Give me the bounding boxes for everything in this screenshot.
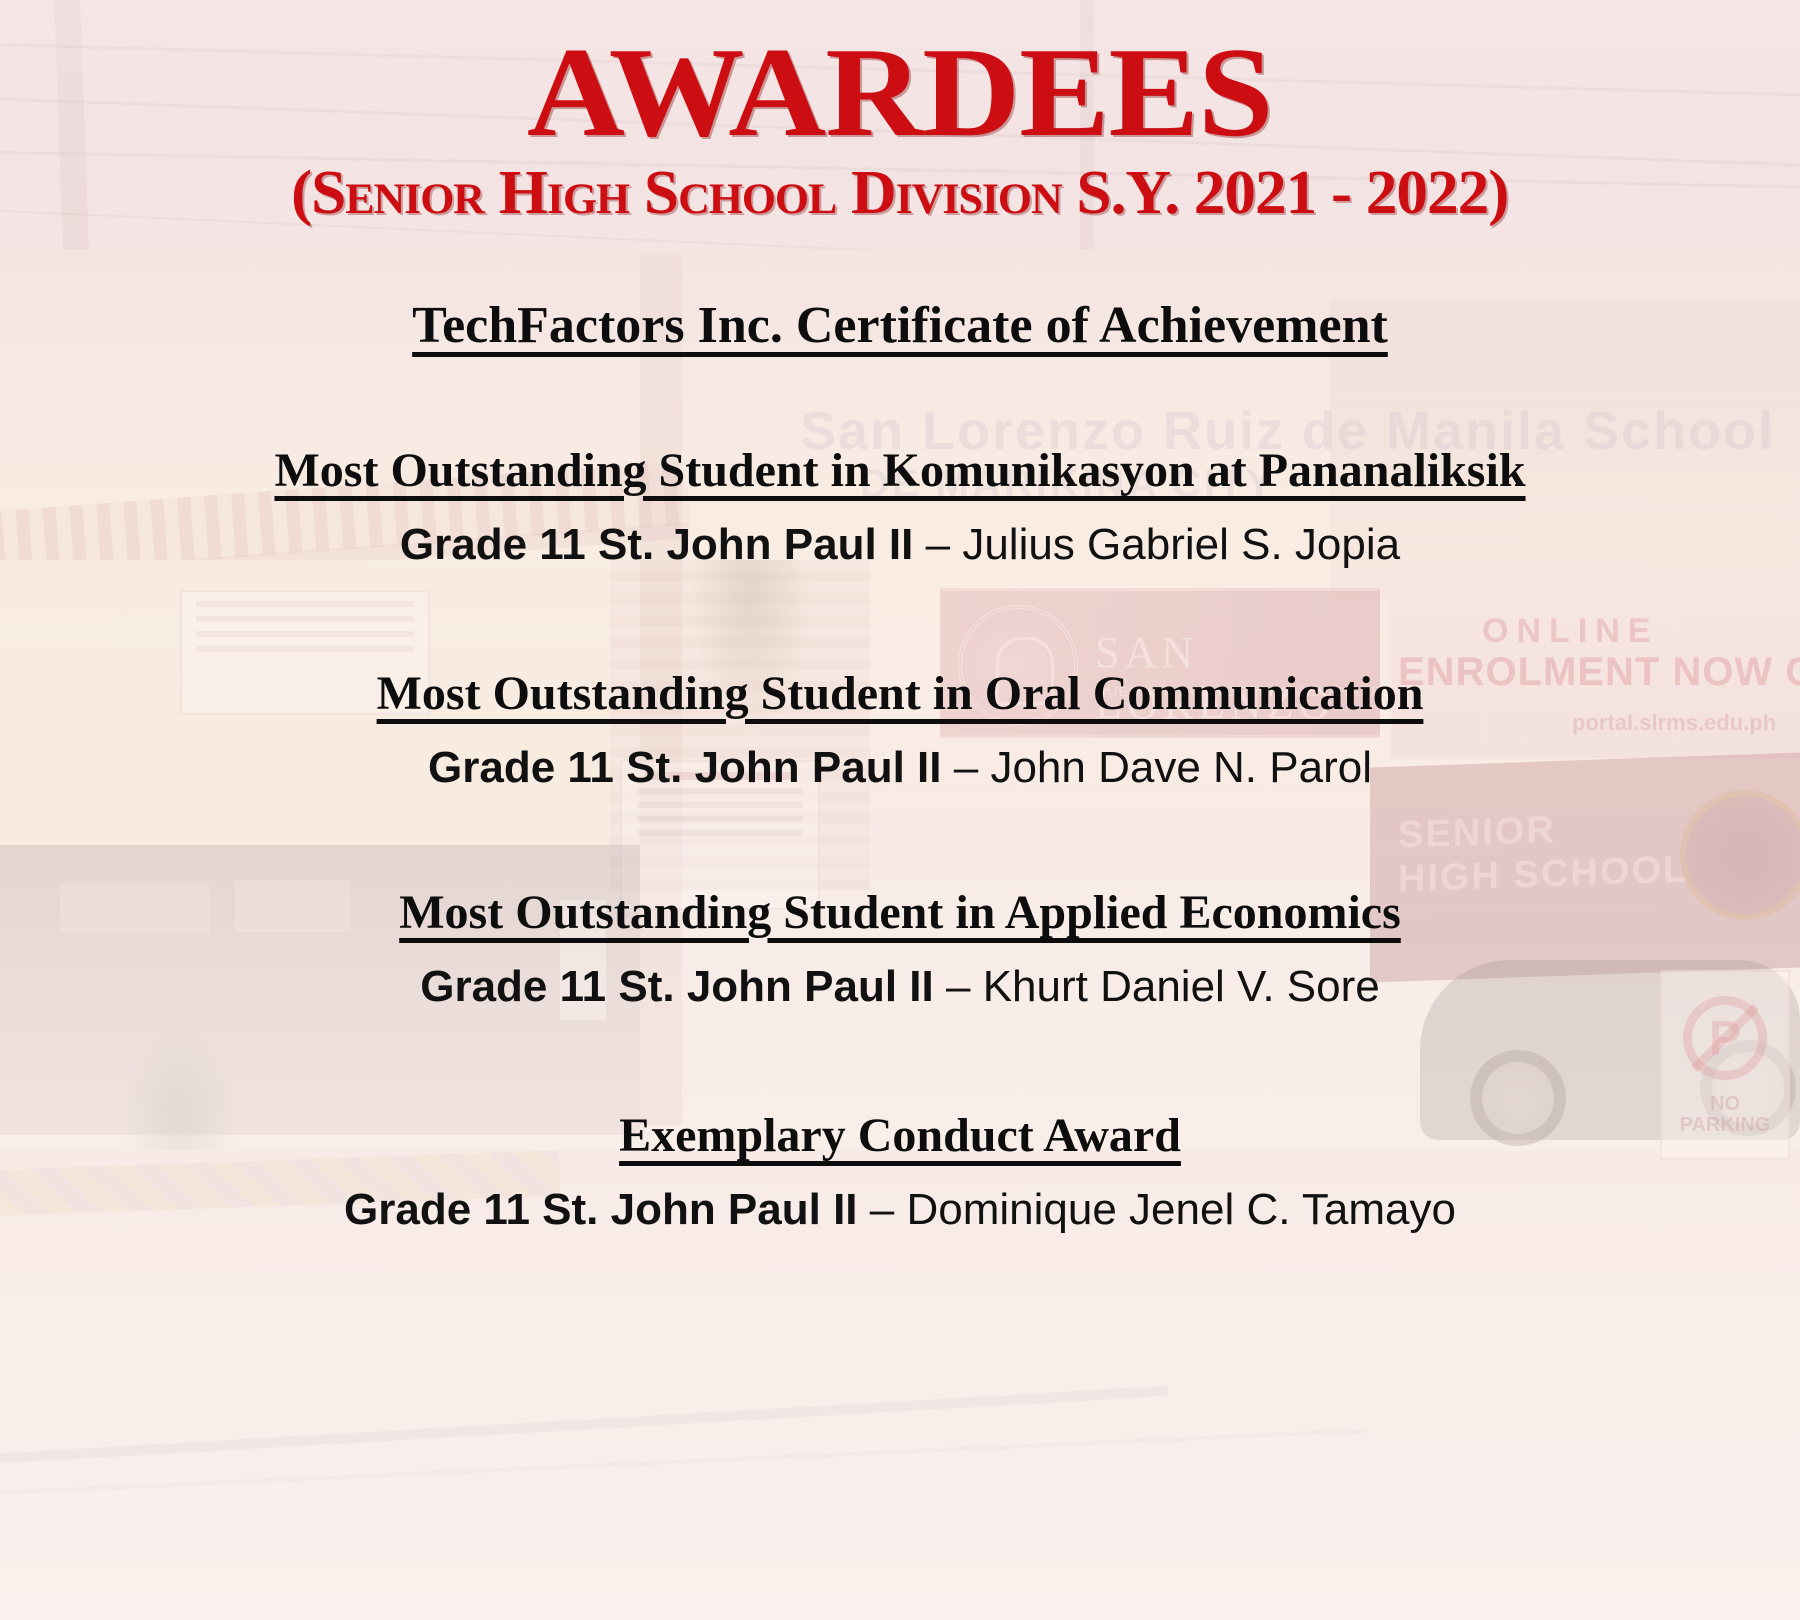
award-entry: Most Outstanding Student in Applied Econ… bbox=[399, 885, 1401, 1012]
award-entry: Exemplary Conduct Award Grade 11 St. Joh… bbox=[344, 1108, 1456, 1235]
page-title: AWARDEES bbox=[527, 28, 1273, 156]
awardee-line: Grade 11 St. John Paul II – Julius Gabri… bbox=[400, 520, 1400, 570]
awardee-separator: – bbox=[954, 743, 978, 792]
awardee-name: Julius Gabriel S. Jopia bbox=[962, 520, 1400, 569]
awardee-grade: Grade 11 St. John Paul II bbox=[420, 962, 934, 1011]
awardee-line: Grade 11 St. John Paul II – Dominique Je… bbox=[344, 1185, 1456, 1235]
awardee-grade: Grade 11 St. John Paul II bbox=[400, 520, 914, 569]
award-title: Exemplary Conduct Award bbox=[619, 1108, 1181, 1163]
certificate-heading: TechFactors Inc. Certificate of Achievem… bbox=[412, 296, 1388, 355]
awardee-grade: Grade 11 St. John Paul II bbox=[344, 1185, 858, 1234]
awardee-name: John Dave N. Parol bbox=[990, 743, 1372, 792]
awardee-grade: Grade 11 St. John Paul II bbox=[428, 743, 942, 792]
page-subtitle: (Senior High School Division S.Y. 2021 -… bbox=[291, 162, 1508, 224]
awardee-name: Dominique Jenel C. Tamayo bbox=[906, 1185, 1455, 1234]
awardee-separator: – bbox=[926, 520, 950, 569]
award-entry: Most Outstanding Student in Oral Communi… bbox=[377, 666, 1424, 793]
poster-content: AWARDEES (Senior High School Division S.… bbox=[0, 0, 1800, 1620]
award-title: Most Outstanding Student in Oral Communi… bbox=[377, 666, 1424, 721]
award-entry: Most Outstanding Student in Komunikasyon… bbox=[274, 443, 1525, 570]
awardee-separator: – bbox=[946, 962, 970, 1011]
awardee-line: Grade 11 St. John Paul II – Khurt Daniel… bbox=[420, 962, 1380, 1012]
awardee-line: Grade 11 St. John Paul II – John Dave N.… bbox=[428, 743, 1372, 793]
awardee-name: Khurt Daniel V. Sore bbox=[983, 962, 1380, 1011]
award-title: Most Outstanding Student in Komunikasyon… bbox=[274, 443, 1525, 498]
award-title: Most Outstanding Student in Applied Econ… bbox=[399, 885, 1401, 940]
awardee-separator: – bbox=[870, 1185, 894, 1234]
